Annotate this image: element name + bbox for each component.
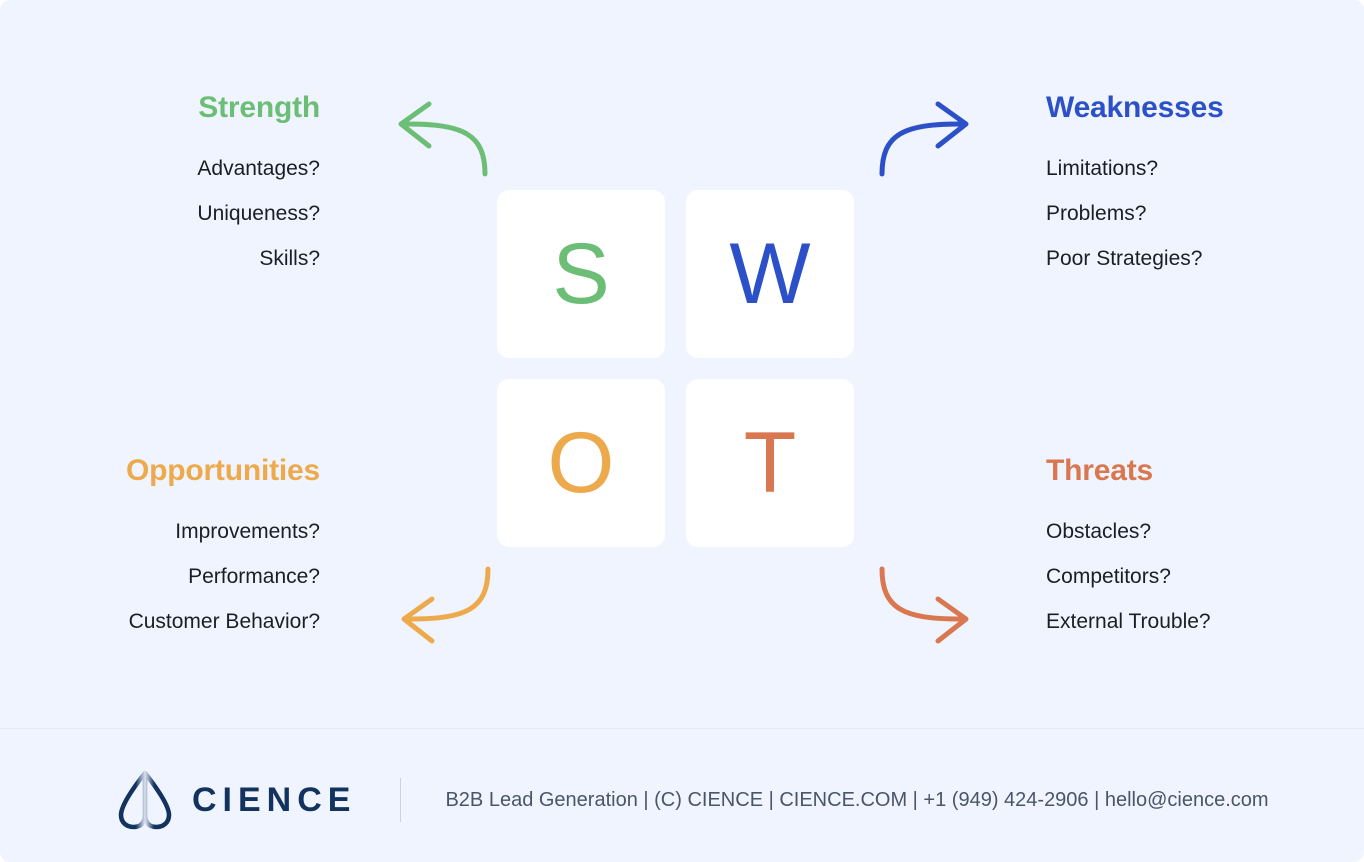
quadrant-title-strength: Strength [0,92,320,124]
letter-card-threats: T [686,379,854,547]
cience-wordmark: CIENCE [192,783,356,817]
list-item: Customer Behavior? [0,611,320,632]
curved-arrow-left-up-icon [385,98,495,178]
letter-o: O [548,420,615,506]
list-item: Uniqueness? [0,203,320,224]
footer-info-text: B2B Lead Generation | (C) CIENCE | CIENC… [445,790,1268,810]
quadrant-title-opportunities: Opportunities [0,455,320,487]
brand-lockup: CIENCE [112,769,356,831]
swot-letter-grid: S W O T [497,190,854,550]
cience-logo-mark-icon [112,769,178,831]
footer-separator [400,778,401,822]
list-item: Problems? [1046,203,1364,224]
swot-diagram-canvas: Strength Advantages? Uniqueness? Skills?… [0,0,1364,862]
letter-card-opportunities: O [497,379,665,547]
list-item: Advantages? [0,158,320,179]
list-item: Skills? [0,248,320,269]
quadrant-title-weaknesses: Weaknesses [1046,92,1364,124]
list-item: Performance? [0,566,320,587]
letter-s: S [552,231,609,317]
letter-t: T [744,420,797,506]
quadrant-threats: Threats Obstacles? Competitors? External… [1046,455,1364,632]
list-item: Limitations? [1046,158,1364,179]
list-item: Obstacles? [1046,521,1364,542]
list-item: Competitors? [1046,566,1364,587]
quadrant-list-opportunities: Improvements? Performance? Customer Beha… [0,521,320,632]
list-item: External Trouble? [1046,611,1364,632]
letter-card-weaknesses: W [686,190,854,358]
footer: CIENCE B2B Lead Generation | (C) CIENCE … [0,760,1364,840]
list-item: Poor Strategies? [1046,248,1364,269]
curved-arrow-right-up-icon [872,98,982,178]
quadrant-list-threats: Obstacles? Competitors? External Trouble… [1046,521,1364,632]
quadrant-opportunities: Opportunities Improvements? Performance?… [0,455,320,632]
curved-arrow-right-down-icon [872,565,982,645]
letter-card-strength: S [497,190,665,358]
letter-w: W [729,231,810,317]
quadrant-strength: Strength Advantages? Uniqueness? Skills? [0,92,320,269]
list-item: Improvements? [0,521,320,542]
quadrant-title-threats: Threats [1046,455,1364,487]
footer-divider [0,728,1364,729]
curved-arrow-left-down-icon [388,565,498,645]
quadrant-list-weaknesses: Limitations? Problems? Poor Strategies? [1046,158,1364,269]
quadrant-weaknesses: Weaknesses Limitations? Problems? Poor S… [1046,92,1364,269]
quadrant-list-strength: Advantages? Uniqueness? Skills? [0,158,320,269]
